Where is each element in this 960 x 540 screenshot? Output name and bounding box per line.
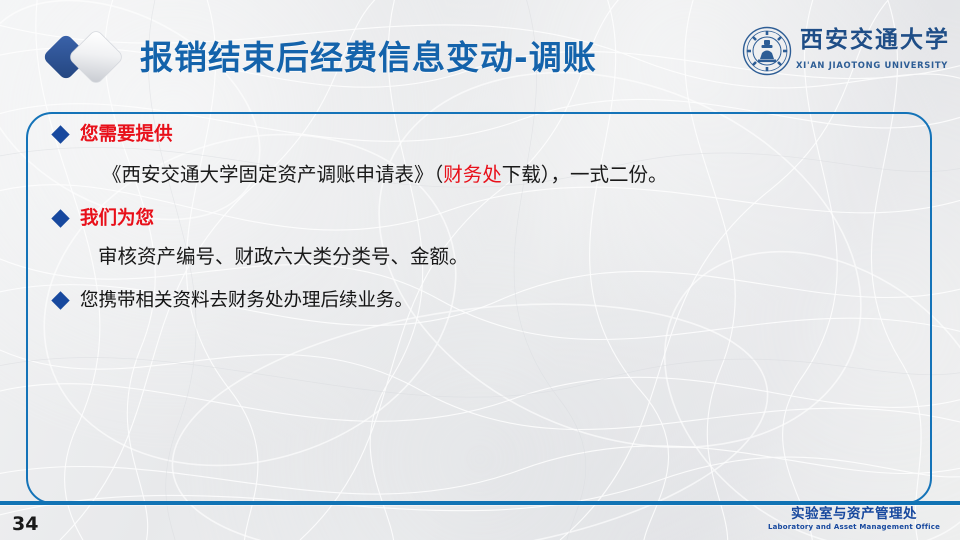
detail-highlight-1: 财务处 [443,163,502,186]
bullet-item-1: 您需要提供 [54,118,914,152]
footer-divider [0,501,960,505]
page-title: 报销结束后经费信息变动-调账 [140,36,597,80]
university-seal-icon [742,26,792,76]
slide-header: 报销结束后经费信息变动-调账 [0,0,960,104]
footer-department-en: Laboratory and Asset Management Office [764,522,944,532]
university-name-cn: 西安交通大学 [800,24,944,56]
diamond-bullet-icon [51,291,69,309]
bullet-item-3: 您携带相关资料去财务处办理后续业务。 [54,284,914,318]
footer-department: 实验室与资产管理处 Laboratory and Asset Managemen… [764,506,944,532]
bullet-label-1: 您需要提供 [80,118,173,152]
university-name-en: XI'AN JIAOTONG UNIVERSITY [796,60,946,70]
bullet-label-2: 我们为您 [80,202,154,236]
bullet-list: 您需要提供 《西安交通大学固定资产调账申请表》（财务处下载），一式二份。 我们为… [54,118,914,318]
double-diamond-logo-icon [40,26,144,88]
bullet-label-3: 您携带相关资料去财务处办理后续业务。 [80,284,413,318]
bullet-item-2: 我们为您 [54,202,914,236]
footer-department-cn: 实验室与资产管理处 [764,506,944,522]
diamond-bullet-icon [51,125,69,143]
bullet-detail-1: 《西安交通大学固定资产调账申请表》（财务处下载），一式二份。 [102,158,914,192]
bullet-detail-2: 审核资产编号、财政六大类分类号、金额。 [98,240,914,274]
university-logo: 西安交通大学 XI'AN JIAOTONG UNIVERSITY [730,22,946,84]
page-number: 34 [12,513,38,535]
detail-suffix-1: 下载），一式二份。 [502,163,668,186]
detail-prefix-1: 《西安交通大学固定资产调账申请表》（ [102,163,443,186]
diamond-bullet-icon [51,209,69,227]
slide-canvas: 报销结束后经费信息变动-调账 [0,0,960,540]
